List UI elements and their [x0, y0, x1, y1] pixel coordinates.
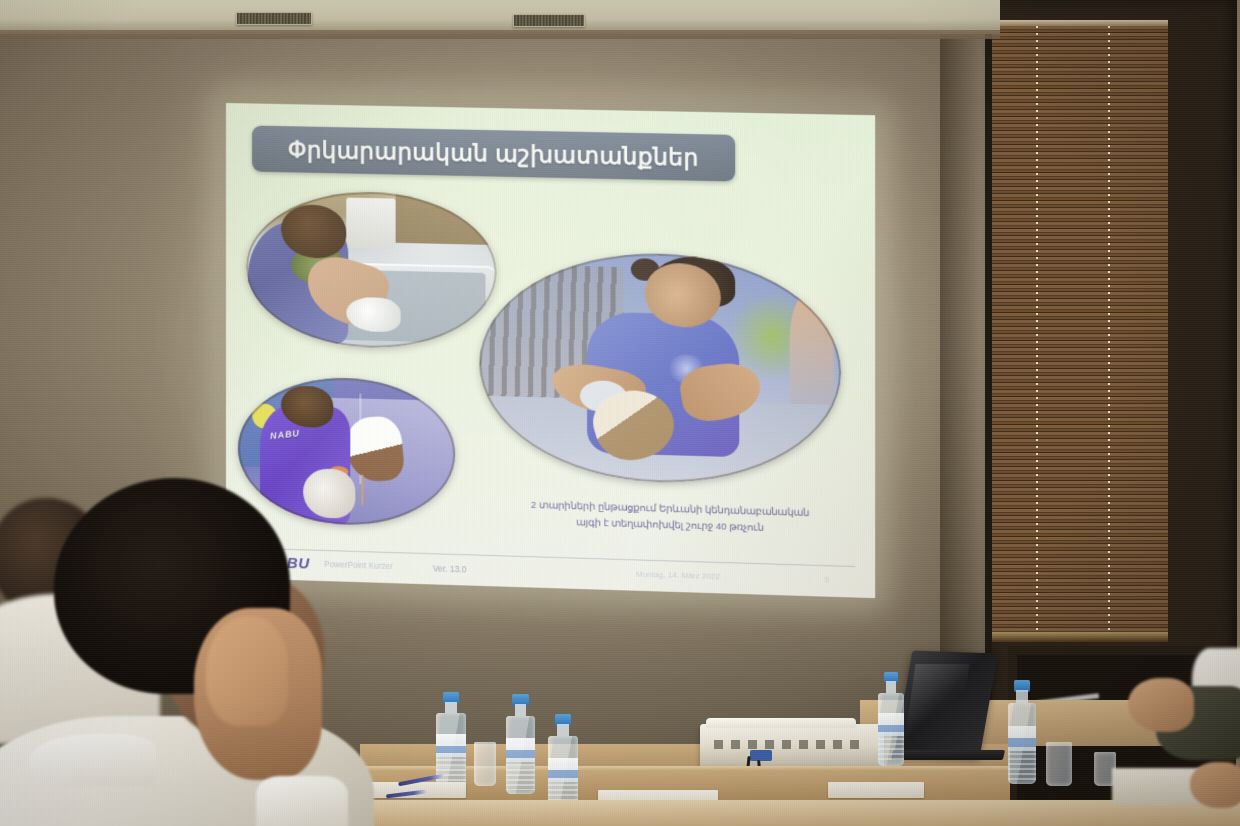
laptop-screen-glare — [905, 664, 970, 742]
blind-panel-main — [992, 26, 1168, 640]
ceiling — [0, 0, 1000, 34]
window-with-venetian-blinds — [985, 0, 1237, 740]
right-attendee — [1118, 640, 1240, 826]
laptop-base — [891, 750, 1005, 760]
blind-cord — [1036, 26, 1038, 642]
water-bottle — [548, 714, 578, 814]
ceiling-vent-icon — [513, 14, 585, 27]
ceiling-vent-icon — [236, 12, 312, 25]
slide-title-bar: Փրկարարական աշխատանքներ — [252, 126, 735, 182]
foreground-attendee — [0, 476, 390, 826]
slide-footer-date: Montag, 14. März 2022 — [636, 570, 720, 582]
notepad — [828, 782, 924, 798]
drinking-glass — [1046, 742, 1072, 786]
page-title: Փրկարարական աշխատանքներ — [288, 136, 699, 171]
drinking-glass — [474, 742, 496, 786]
conference-room-scene: Փրկարարական աշխատանքներ — [0, 0, 1240, 826]
photo-handler-with-bird — [479, 250, 841, 488]
vga-connector — [750, 750, 772, 761]
slide-number: 5 — [825, 575, 830, 584]
water-bottle — [506, 694, 535, 794]
photo-rescue-basin — [246, 189, 497, 350]
slide-caption: 2 տարիների ընթացքում Երևանի կենդանաբանակ… — [496, 497, 846, 539]
slide-footer-version: Ver. 13.0 — [433, 563, 466, 574]
water-bottle — [1008, 680, 1036, 784]
projector — [700, 724, 884, 772]
water-bottle — [878, 672, 904, 766]
ceiling-edge — [0, 30, 1000, 39]
blind-cord — [1108, 26, 1110, 642]
